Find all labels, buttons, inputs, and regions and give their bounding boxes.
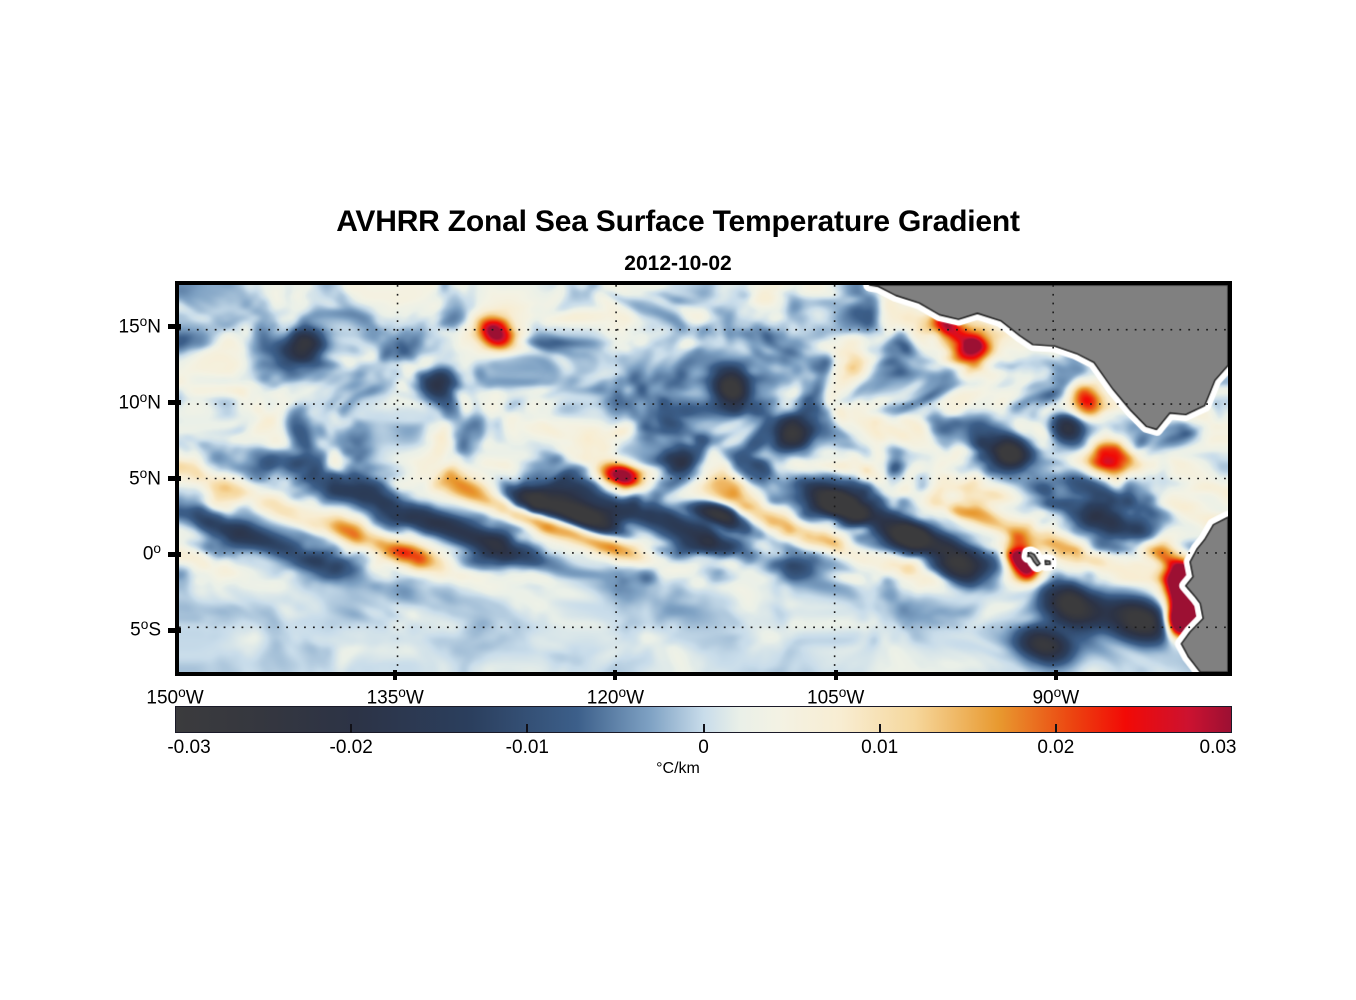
- y-tick-label: 0o: [143, 541, 161, 566]
- y-tick-label: 5oN: [129, 466, 161, 491]
- y-tick-mark: [168, 552, 181, 557]
- y-tick-mark: [168, 400, 181, 405]
- figure-subtitle: 2012-10-02: [0, 252, 1356, 276]
- page-title: AVHRR Zonal Sea Surface Temperature Grad…: [0, 205, 1356, 239]
- colorbar-tick: [350, 724, 352, 733]
- colorbar-tick: [1055, 724, 1057, 733]
- colorbar-tick-label: -0.02: [330, 737, 373, 759]
- colorbar-tick-label: -0.01: [506, 737, 549, 759]
- colorbar-tick: [703, 724, 705, 733]
- colorbar-tick-label: 0.02: [1037, 737, 1074, 759]
- colorbar-unit-label: °C/km: [0, 760, 1356, 778]
- sst-gradient-heatmap: [179, 285, 1228, 672]
- colorbar-tick: [879, 724, 881, 733]
- colorbar[interactable]: [175, 706, 1232, 733]
- x-tick-mark: [393, 670, 397, 680]
- x-tick-mark: [1054, 670, 1058, 680]
- colorbar-tick-label: 0: [698, 737, 709, 759]
- y-tick-mark: [168, 324, 181, 329]
- x-tick-mark: [613, 670, 617, 680]
- y-tick-label: 15oN: [119, 314, 161, 339]
- y-tick-label: 5oS: [130, 617, 161, 642]
- colorbar-tick: [526, 724, 528, 733]
- colorbar-tick-label: 0.03: [1200, 737, 1237, 759]
- colorbar-tick-label: 0.01: [861, 737, 898, 759]
- y-tick-mark: [168, 628, 181, 633]
- x-tick-mark: [834, 670, 838, 680]
- colorbar-tick-label: -0.03: [167, 737, 210, 759]
- y-tick-label: 10oN: [119, 390, 161, 415]
- y-tick-mark: [168, 476, 181, 481]
- map-axes[interactable]: [175, 281, 1232, 676]
- figure-root: AVHRR Zonal Sea Surface Temperature Grad…: [0, 0, 1356, 1000]
